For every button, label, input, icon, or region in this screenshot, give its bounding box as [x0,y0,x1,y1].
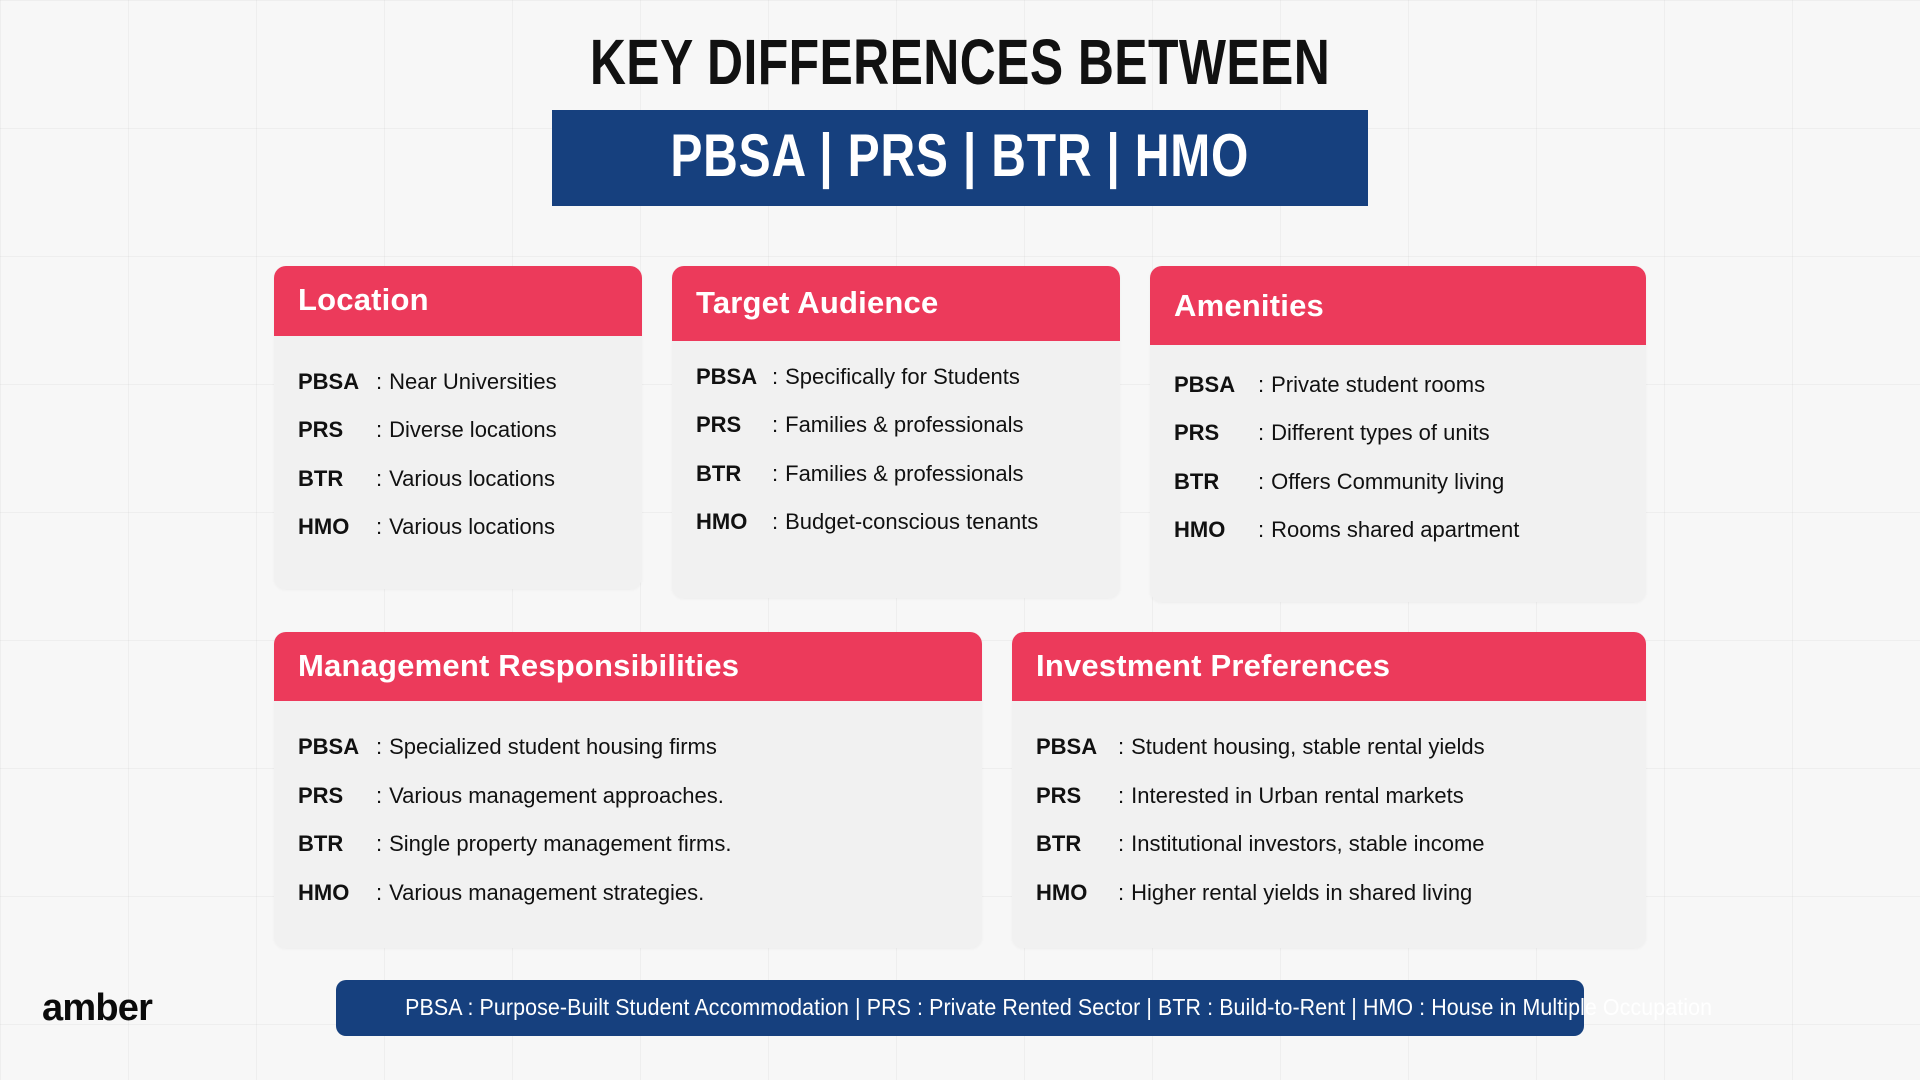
list-item: BTR : Families & professionals [696,460,1096,488]
row-separator: : [1258,419,1271,447]
card-target-audience-body: PBSA : Specifically for Students PRS : F… [672,341,1120,598]
legend-text: PBSA : Purpose-Built Student Accommodati… [405,994,1712,1022]
page-footer: amber PBSA : Purpose-Built Student Accom… [0,920,1920,1080]
card-investment-preferences-body: PBSA : Student housing, stable rental yi… [1012,701,1646,948]
card-target-audience-header: Target Audience [672,266,1120,341]
row-value: Diverse locations [389,416,557,444]
card-amenities-body: PBSA : Private student rooms PRS : Diffe… [1150,345,1646,602]
legend-bar: PBSA : Purpose-Built Student Accommodati… [336,980,1584,1036]
row-key: BTR [696,460,772,488]
row-key: PBSA [696,363,772,391]
row-separator: : [376,879,389,907]
row-separator: : [376,782,389,810]
card-management-responsibilities-body: PBSA : Specialized student housing firms… [274,701,982,948]
list-item: PRS : Diverse locations [298,416,618,444]
row-key: PRS [298,782,376,810]
row-key: PBSA [1036,733,1118,761]
row-key: PRS [1036,782,1118,810]
card-target-audience: Target Audience PBSA : Specifically for … [672,266,1120,598]
card-amenities-title: Amenities [1174,288,1622,324]
row-value: Specifically for Students [785,363,1020,391]
row-key: BTR [298,465,376,493]
card-management-responsibilities-header: Management Responsibilities [274,632,982,702]
row-value: Interested in Urban rental markets [1131,782,1464,810]
row-value: Families & professionals [785,460,1023,488]
row-value: Budget-conscious tenants [785,508,1038,536]
row-key: HMO [1036,879,1118,907]
row-value: Different types of units [1271,419,1490,447]
row-key: PRS [1174,419,1258,447]
row-separator: : [772,363,785,391]
row-separator: : [1258,516,1271,544]
cards-row-top: Location PBSA : Near Universities PRS : … [0,266,1920,602]
card-target-audience-title: Target Audience [696,285,1096,321]
row-value: Near Universities [389,368,557,396]
row-separator: : [1118,879,1131,907]
row-separator: : [772,411,785,439]
row-key: BTR [298,830,376,858]
cards-row-bottom: Management Responsibilities PBSA : Speci… [0,632,1920,949]
row-key: PBSA [1174,371,1258,399]
comparison-cards: Location PBSA : Near Universities PRS : … [0,266,1920,948]
list-item: PBSA : Near Universities [298,368,618,396]
row-key: HMO [298,513,376,541]
card-investment-preferences-header: Investment Preferences [1012,632,1646,702]
row-separator: : [376,733,389,761]
card-management-responsibilities: Management Responsibilities PBSA : Speci… [274,632,982,949]
list-item: BTR : Offers Community living [1174,468,1622,496]
row-key: PRS [696,411,772,439]
card-amenities: Amenities PBSA : Private student rooms P… [1150,266,1646,602]
row-separator: : [1118,782,1131,810]
row-key: PBSA [298,733,376,761]
row-key: HMO [298,879,376,907]
row-separator: : [376,416,389,444]
title-banner-label: PBSA | PRS | BTR | HMO [671,126,1250,186]
list-item: PRS : Families & professionals [696,411,1096,439]
card-management-responsibilities-title: Management Responsibilities [298,648,958,684]
list-item: PBSA : Student housing, stable rental yi… [1036,733,1622,761]
row-key: HMO [1174,516,1258,544]
list-item: BTR : Institutional investors, stable in… [1036,830,1622,858]
row-value: Offers Community living [1271,468,1504,496]
list-item: PBSA : Specifically for Students [696,363,1096,391]
card-location: Location PBSA : Near Universities PRS : … [274,266,642,589]
list-item: PRS : Interested in Urban rental markets [1036,782,1622,810]
row-key: BTR [1036,830,1118,858]
card-location-header: Location [274,266,642,336]
row-separator: : [376,830,389,858]
row-value: Institutional investors, stable income [1131,830,1484,858]
list-item: PBSA : Specialized student housing firms [298,733,958,761]
row-separator: : [376,368,389,396]
row-value: Various management approaches. [389,782,724,810]
row-separator: : [1118,830,1131,858]
card-investment-preferences: Investment Preferences PBSA : Student ho… [1012,632,1646,949]
list-item: HMO : Various management strategies. [298,879,958,907]
list-item: BTR : Single property management firms. [298,830,958,858]
row-separator: : [1118,733,1131,761]
row-key: BTR [1174,468,1258,496]
list-item: PBSA : Private student rooms [1174,371,1622,399]
card-location-title: Location [298,282,618,318]
title-banner: PBSA | PRS | BTR | HMO [552,110,1368,206]
row-value: Higher rental yields in shared living [1131,879,1472,907]
row-value: Various locations [389,465,555,493]
row-value: Rooms shared apartment [1271,516,1519,544]
row-value: Private student rooms [1271,371,1485,399]
list-item: PRS : Different types of units [1174,419,1622,447]
card-investment-preferences-title: Investment Preferences [1036,648,1622,684]
row-separator: : [772,508,785,536]
row-key: HMO [696,508,772,536]
row-key: PBSA [298,368,376,396]
card-amenities-header: Amenities [1150,266,1646,345]
list-item: HMO : Various locations [298,513,618,541]
page-header: KEY DIFFERENCES BETWEEN PBSA | PRS | BTR… [0,0,1920,206]
row-value: Various locations [389,513,555,541]
row-separator: : [772,460,785,488]
amber-logo: amber [42,987,152,1030]
row-key: PRS [298,416,376,444]
row-separator: : [1258,371,1271,399]
list-item: BTR : Various locations [298,465,618,493]
row-separator: : [376,513,389,541]
row-value: Specialized student housing firms [389,733,717,761]
row-separator: : [1258,468,1271,496]
card-location-body: PBSA : Near Universities PRS : Diverse l… [274,336,642,589]
list-item: PRS : Various management approaches. [298,782,958,810]
row-value: Various management strategies. [389,879,704,907]
row-value: Student housing, stable rental yields [1131,733,1484,761]
page-title: KEY DIFFERENCES BETWEEN [211,30,1709,94]
list-item: HMO : Budget-conscious tenants [696,508,1096,536]
row-value: Single property management firms. [389,830,731,858]
row-value: Families & professionals [785,411,1023,439]
row-separator: : [376,465,389,493]
list-item: HMO : Higher rental yields in shared liv… [1036,879,1622,907]
list-item: HMO : Rooms shared apartment [1174,516,1622,544]
